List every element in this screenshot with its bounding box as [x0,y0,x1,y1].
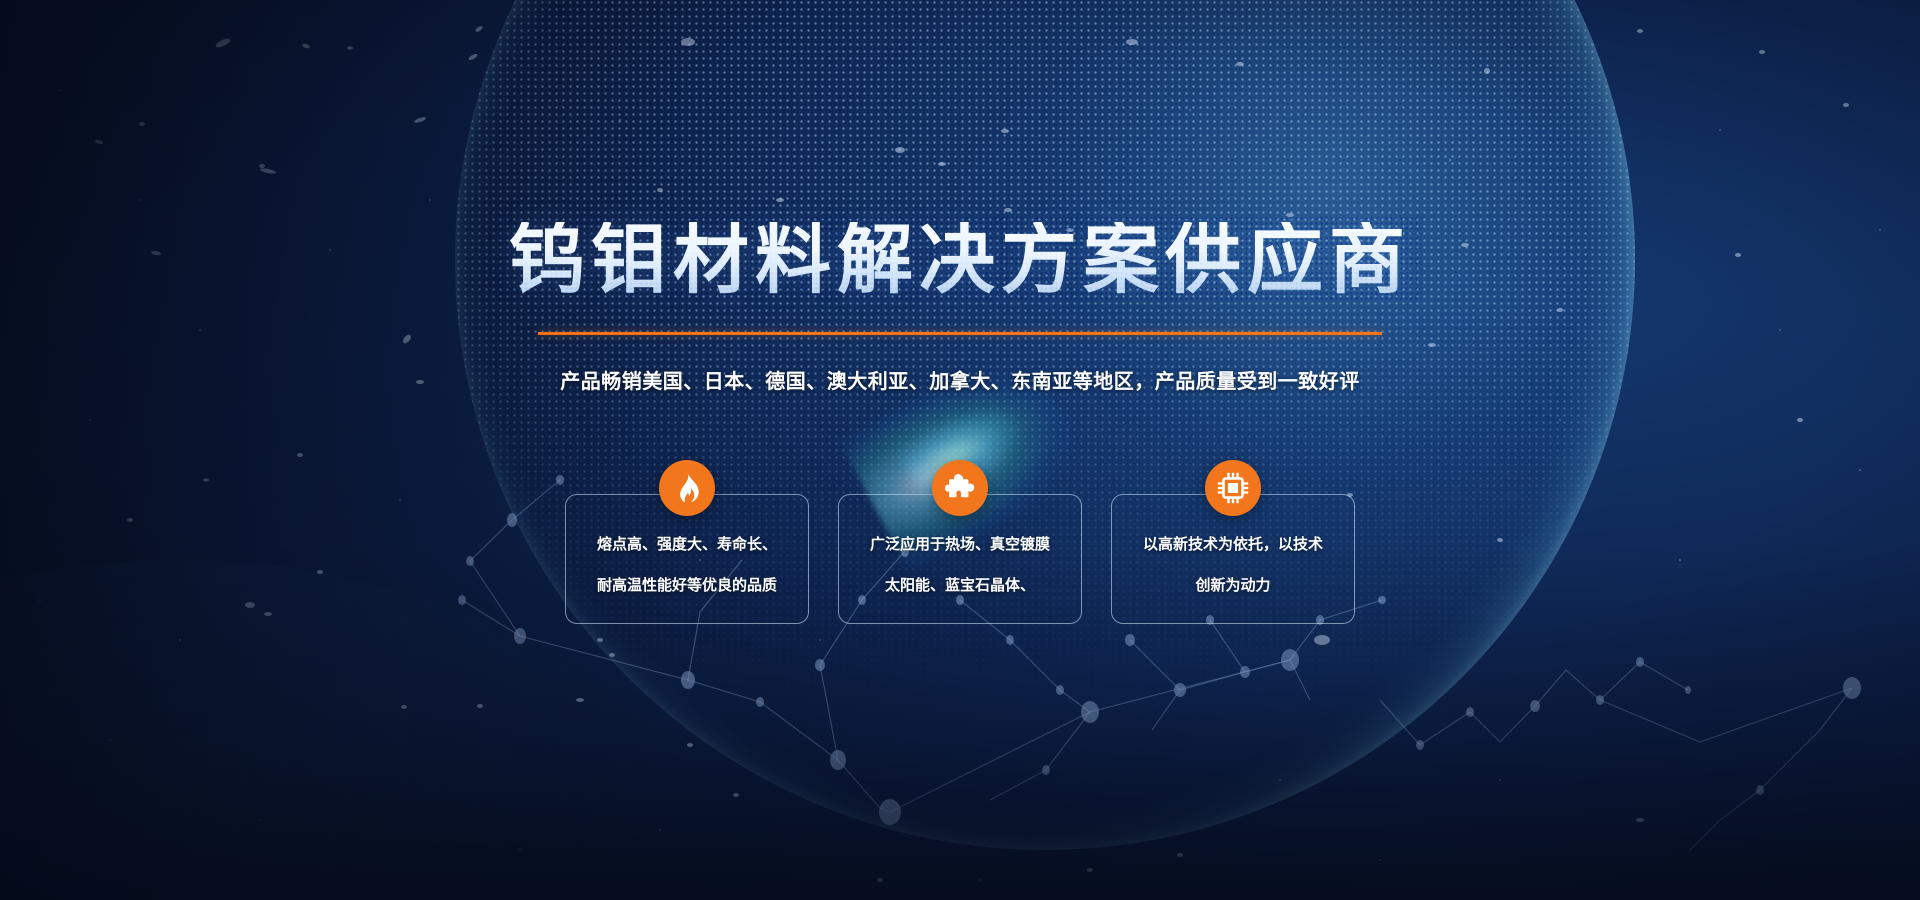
feature-card-line2: 太阳能、蓝宝石晶体、 [885,578,1035,593]
feature-card-line1: 广泛应用于热场、真空镀膜 [870,537,1050,552]
feature-card-line1: 以高新技术为依托，以技术 [1143,537,1323,552]
background-vignette [0,0,1920,900]
title-block: 钨钼材料解决方案供应商 产品畅销美国、日本、德国、澳大利亚、加拿大、东南亚等地区… [0,222,1920,394]
hero-banner: 钨钼材料解决方案供应商 产品畅销美国、日本、德国、澳大利亚、加拿大、东南亚等地区… [0,0,1920,900]
feature-card[interactable]: 熔点高、强度大、寿命长、 耐高温性能好等优良的品质 [565,494,809,624]
feature-card-line1: 熔点高、强度大、寿命长、 [597,537,777,552]
puzzle-icon [932,460,988,516]
flame-icon [659,460,715,516]
page-subtitle: 产品畅销美国、日本、德国、澳大利亚、加拿大、东南亚等地区，产品质量受到一致好评 [0,365,1920,394]
title-row: 钨钼材料解决方案供应商 [505,222,1415,304]
feature-card[interactable]: 以高新技术为依托，以技术 创新为动力 [1111,494,1355,624]
chip-icon [1205,460,1261,516]
feature-card[interactable]: 广泛应用于热场、真空镀膜 太阳能、蓝宝石晶体、 [838,494,1082,624]
feature-card-list: 熔点高、强度大、寿命长、 耐高温性能好等优良的品质 广泛应用于热场、真空镀膜 太… [565,494,1355,624]
feature-card-line2: 创新为动力 [1195,578,1270,593]
feature-card-line2: 耐高温性能好等优良的品质 [597,578,777,593]
page-title: 钨钼材料解决方案供应商 [505,222,1415,304]
title-underline [538,332,1382,335]
